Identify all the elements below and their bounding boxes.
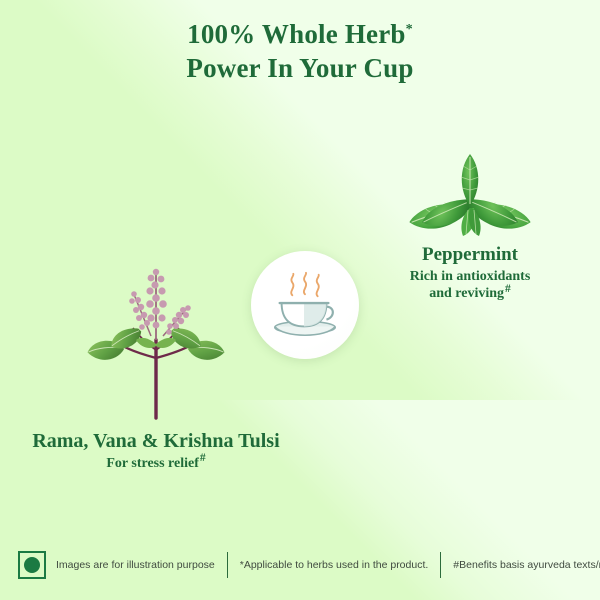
herb-benefit-tulsi: For stress relief#	[8, 455, 304, 473]
page-title: 100% Whole Herb* Power In Your Cup	[0, 18, 600, 86]
herb-benefit-tulsi-line1: For stress relief	[106, 456, 199, 471]
herb-benefit-peppermint-line2: and reviving	[429, 286, 504, 301]
footer-note-applicable: *Applicable to herbs used in the product…	[228, 559, 441, 571]
headline-line-1: 100% Whole Herb*	[0, 18, 600, 52]
herb-name-tulsi: Rama, Vana & Krishna Tulsi	[8, 430, 304, 453]
herb-card-peppermint: Peppermint Rich in antioxidants and revi…	[368, 150, 572, 303]
headline-line-2: Power In Your Cup	[0, 52, 600, 86]
footer-note-illustration: Images are for illustration purpose	[46, 559, 227, 571]
herb-benefit-peppermint-line1: Rich in antioxidants	[410, 269, 531, 284]
headline-line-1-text: 100% Whole Herb	[187, 19, 406, 49]
herb-benefit-peppermint-hash: #	[504, 283, 511, 295]
herb-benefit-peppermint: Rich in antioxidants and reviving#	[368, 268, 572, 303]
herb-benefit-tulsi-hash: #	[199, 452, 206, 464]
tea-cup-badge	[251, 251, 359, 359]
footer-note-benefits: #Benefits basis ayurveda texts/modern re…	[441, 559, 600, 571]
mint-leaves-icon	[395, 150, 545, 240]
tulsi-plant-icon	[81, 258, 231, 428]
footer-bar: Images are for illustration purpose *App…	[18, 548, 592, 582]
tea-cup-icon	[266, 266, 344, 344]
herb-name-peppermint: Peppermint	[368, 244, 572, 266]
steam-icon	[291, 273, 319, 296]
headline-asterisk: *	[406, 21, 413, 37]
vegetarian-mark-dot	[24, 557, 40, 573]
promo-poster: 100% Whole Herb* Power In Your Cup	[0, 0, 600, 600]
vegetarian-mark-icon	[18, 551, 46, 579]
